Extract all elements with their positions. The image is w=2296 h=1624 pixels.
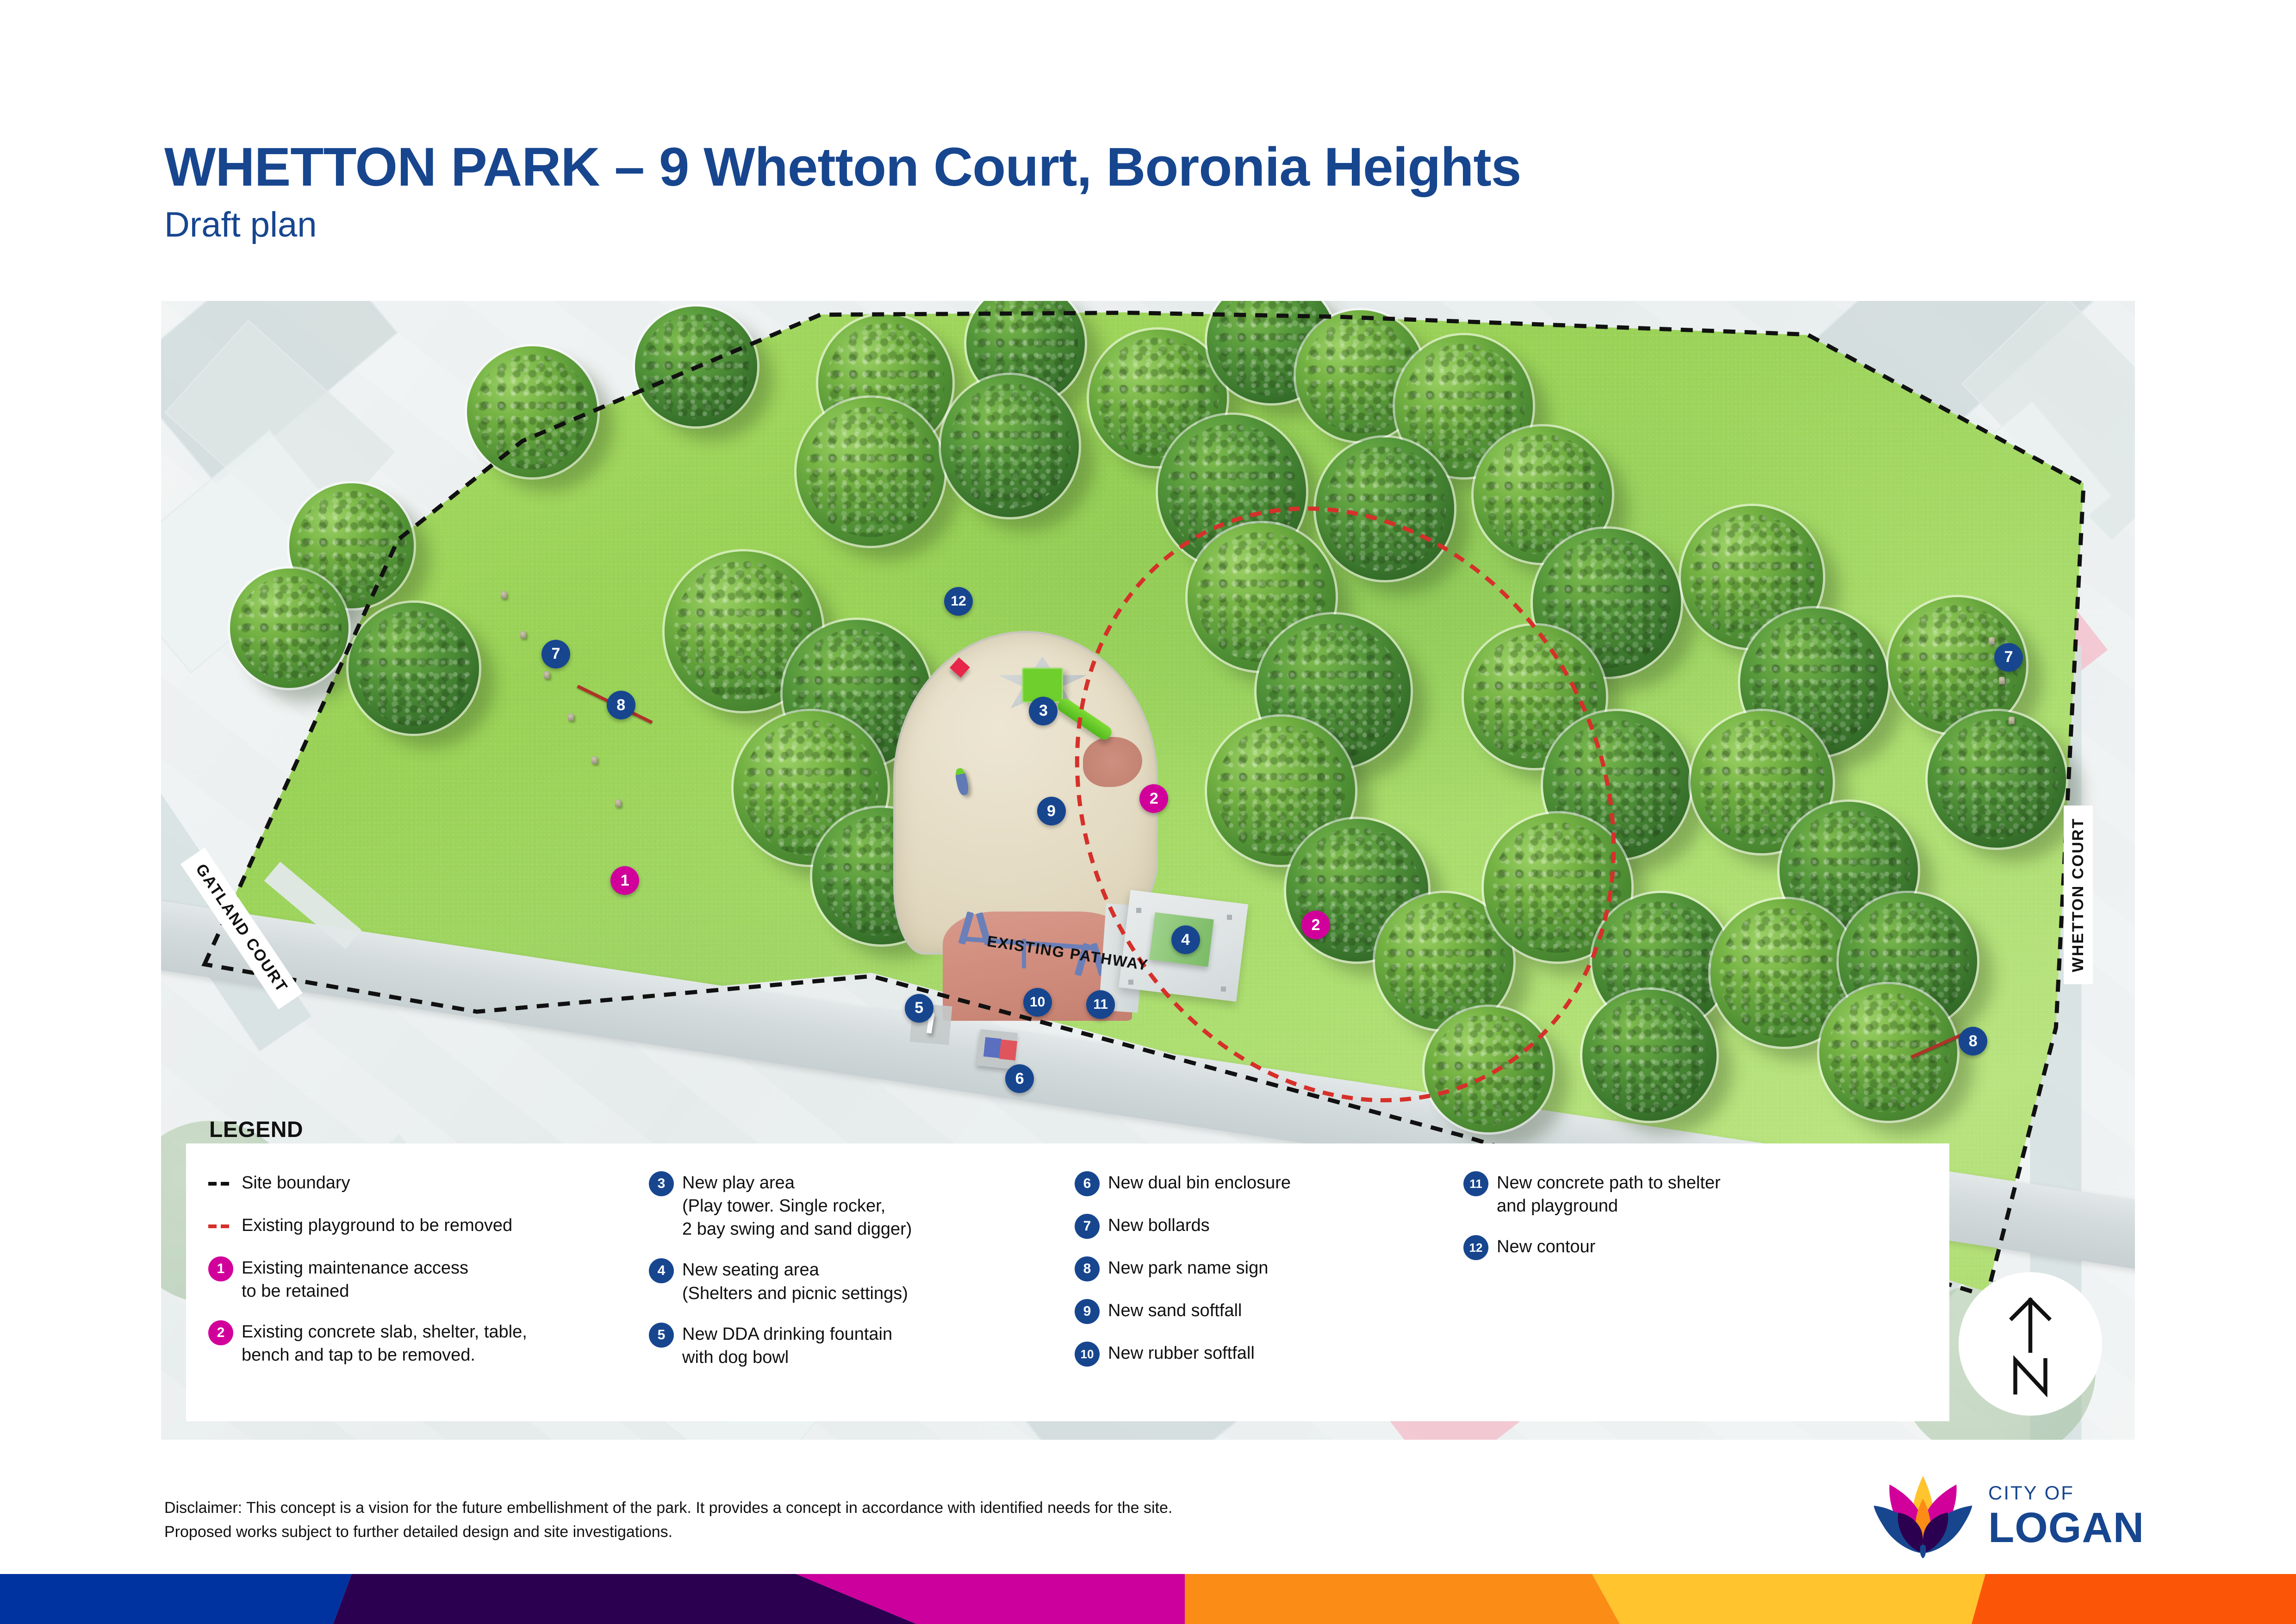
- map-marker-4[interactable]: 4: [1171, 925, 1200, 954]
- legend-column-3: 6New dual bin enclosure7New bollards8New…: [1075, 1171, 1463, 1384]
- map-marker-2[interactable]: 2: [1139, 784, 1168, 813]
- north-arrow: [1959, 1272, 2102, 1416]
- legend-item-label: New rubber softfall: [1108, 1342, 1255, 1365]
- color-bar-segment: [1185, 1574, 1620, 1624]
- disclaimer-line-1: Disclaimer: This concept is a vision for…: [164, 1496, 1172, 1520]
- legend-item-label: New seating area(Shelters and picnic set…: [682, 1258, 908, 1305]
- brand-color-bar: [0, 1574, 2296, 1624]
- legend-title: LEGEND: [209, 1117, 303, 1143]
- map-marker-5[interactable]: 5: [905, 994, 933, 1023]
- page-title: WHETTON PARK – 9 Whetton Court, Boronia …: [164, 139, 2108, 196]
- legend-item-label: New DDA drinking fountainwith dog bowl: [682, 1323, 892, 1369]
- map-marker-8b[interactable]: 8: [1959, 1027, 1987, 1056]
- map-marker-1[interactable]: 1: [610, 866, 639, 895]
- legend-item-label: New play area(Play tower. Single rocker,…: [682, 1171, 912, 1241]
- map-marker-6[interactable]: 6: [1005, 1064, 1034, 1093]
- legend-item: Site boundary: [208, 1171, 676, 1196]
- map-marker-7[interactable]: 7: [541, 640, 570, 668]
- legend-item-label: New sand softfall: [1108, 1299, 1242, 1322]
- legend-item-label: New concrete path to shelterand playgrou…: [1497, 1171, 1721, 1218]
- map-marker-10[interactable]: 10: [1023, 988, 1052, 1017]
- map-marker-2b[interactable]: 2: [1301, 911, 1330, 939]
- page-header: WHETTON PARK – 9 Whetton Court, Boronia …: [164, 139, 2108, 244]
- legend-item-label: Existing concrete slab, shelter, table,b…: [242, 1320, 527, 1367]
- red-dashed-line-icon: [208, 1214, 233, 1239]
- legend-badge-7: 7: [1075, 1214, 1100, 1239]
- color-bar-segment: [1592, 1574, 1985, 1624]
- legend-badge-8: 8: [1075, 1256, 1100, 1281]
- legend-badge-5: 5: [649, 1323, 674, 1348]
- legend-item-label: New dual bin enclosure: [1108, 1171, 1291, 1194]
- legend-panel: Site boundaryExisting playground to be r…: [186, 1143, 1949, 1421]
- legend-column-1: Site boundaryExisting playground to be r…: [208, 1171, 676, 1385]
- legend-badge-4: 4: [649, 1258, 674, 1283]
- legend-badge-11: 11: [1463, 1171, 1488, 1196]
- legend-item-label: New park name sign: [1108, 1256, 1268, 1280]
- lotus-flower-icon: [1870, 1472, 1976, 1560]
- north-arrow-icon: [1996, 1291, 2065, 1397]
- legend-item: 8New park name sign: [1075, 1256, 1463, 1281]
- black-dashed-line-icon: [208, 1171, 233, 1196]
- legend-item: 11New concrete path to shelterand playgr…: [1463, 1171, 1908, 1218]
- map-marker-9[interactable]: 9: [1037, 797, 1066, 825]
- logo-city-text: CITY OF: [1988, 1483, 2144, 1503]
- legend-badge-3: 3: [649, 1171, 674, 1196]
- legend-column-2: 3New play area(Play tower. Single rocker…: [649, 1171, 1084, 1387]
- legend-badge-9: 9: [1075, 1299, 1100, 1324]
- legend-item: 1Existing maintenance accessto be retain…: [208, 1256, 676, 1303]
- color-bar-segment: [1972, 1574, 2296, 1624]
- color-bar-segment: [0, 1574, 352, 1624]
- map-marker-7b[interactable]: 7: [1994, 643, 2023, 672]
- legend-item: Existing playground to be removed: [208, 1214, 676, 1239]
- legend-item: 10New rubber softfall: [1075, 1342, 1463, 1367]
- city-of-logan-logo: CITY OF LOGAN: [1870, 1472, 2144, 1560]
- legend-item: 6New dual bin enclosure: [1075, 1171, 1463, 1196]
- legend-badge-12: 12: [1463, 1235, 1488, 1260]
- legend-item: 3New play area(Play tower. Single rocker…: [649, 1171, 1084, 1241]
- map-marker-3[interactable]: 3: [1029, 697, 1058, 725]
- legend-item: 12New contour: [1463, 1235, 1908, 1260]
- legend-badge-1: 1: [208, 1256, 233, 1281]
- legend-item-label: New bollards: [1108, 1214, 1210, 1237]
- map-marker-8[interactable]: 8: [607, 691, 635, 719]
- legend-item: 4New seating area(Shelters and picnic se…: [649, 1258, 1084, 1305]
- street-label-whetton-court: WHETTON COURT: [2064, 806, 2093, 984]
- legend-badge-6: 6: [1075, 1171, 1100, 1196]
- legend-badge-10: 10: [1075, 1342, 1100, 1367]
- disclaimer-text: Disclaimer: This concept is a vision for…: [164, 1496, 1172, 1544]
- legend-item-label: Existing playground to be removed: [242, 1214, 512, 1237]
- legend-item: 2Existing concrete slab, shelter, table,…: [208, 1320, 676, 1367]
- map-marker-11[interactable]: 11: [1086, 990, 1115, 1019]
- map-marker-12[interactable]: 12: [944, 587, 973, 616]
- legend-item-label: New contour: [1497, 1235, 1595, 1258]
- legend-badge-2: 2: [208, 1320, 233, 1345]
- logo-wordmark: CITY OF LOGAN: [1988, 1483, 2144, 1549]
- legend-item: 5New DDA drinking fountainwith dog bowl: [649, 1323, 1084, 1369]
- legend-item: 9New sand softfall: [1075, 1299, 1463, 1324]
- legend-item-label: Existing maintenance accessto be retaine…: [242, 1256, 468, 1303]
- legend-column-4: 11New concrete path to shelterand playgr…: [1463, 1171, 1908, 1278]
- disclaimer-line-2: Proposed works subject to further detail…: [164, 1520, 1172, 1544]
- legend-item: 7New bollards: [1075, 1214, 1463, 1239]
- legend-item-label: Site boundary: [242, 1171, 350, 1194]
- logo-logan-text: LOGAN: [1988, 1506, 2144, 1549]
- page-subtitle: Draft plan: [164, 206, 2108, 244]
